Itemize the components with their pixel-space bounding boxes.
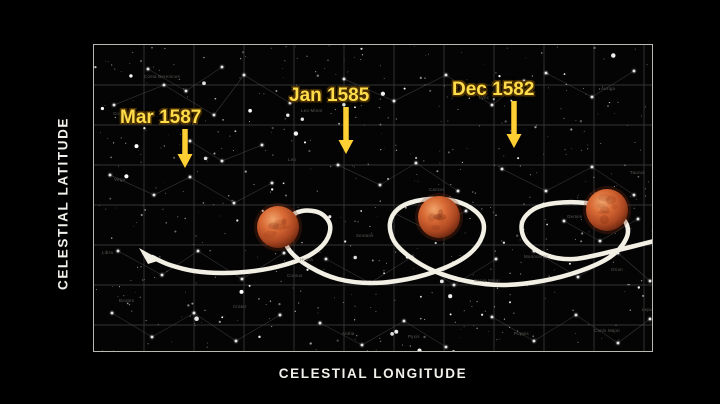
constellation-label: Gemini (567, 214, 582, 219)
constellation-label: Pyxis (408, 334, 420, 339)
constellation-label: Sextans (356, 233, 374, 238)
date-label-dec-1582: Dec 1582 (452, 79, 534, 101)
star-field (94, 45, 653, 352)
constellation-label: Leo (288, 157, 296, 162)
constellation-label: Hydra (300, 257, 313, 262)
constellation-label: Lepus (642, 307, 653, 312)
constellation-label: Orion (611, 267, 623, 272)
star-chart-panel: Coma BerenicesVirgoLeoBootesCraterCorvus… (93, 44, 653, 352)
constellation-label: Bootes (119, 298, 134, 303)
constellation-label: Auriga (601, 86, 615, 91)
date-label-mar-1587: Mar 1587 (120, 107, 201, 129)
y-axis-title: CELESTIAL LATITUDE (56, 74, 71, 334)
mars-retrograde-figure: CELESTIAL LATITUDE CELESTIAL LONGITUDE (0, 0, 720, 404)
constellation-label: Crater (233, 304, 247, 309)
x-axis-title: CELESTIAL LONGITUDE (93, 366, 653, 381)
constellation-label: Corvus (287, 273, 302, 278)
constellation-label: Taurus (630, 170, 645, 175)
constellation-label: Antlia (342, 331, 354, 336)
constellation-label: Leo Minor (301, 108, 323, 113)
sky-canvas (94, 45, 653, 352)
constellation-label: Canis Minor (474, 278, 500, 283)
constellation-label: Cancer (429, 187, 445, 192)
constellation-label: Monoceros (524, 254, 548, 259)
coordinate-grid (94, 45, 653, 352)
mars-path (139, 199, 653, 285)
constellation-label: Libra (102, 250, 113, 255)
date-label-jan-1585: Jan 1585 (289, 85, 369, 107)
constellation-label: Puppis (514, 331, 529, 336)
constellation-label: Virgo (114, 177, 125, 182)
constellation-label: Coma Berenices (144, 74, 180, 79)
constellation-label: Canis Major (594, 328, 620, 333)
